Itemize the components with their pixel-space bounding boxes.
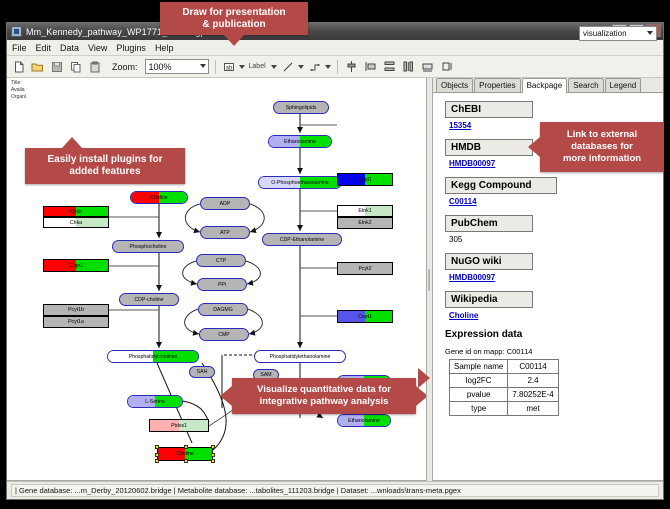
side-panel-tabs: Objects Properties Backpage Search Legen… [433,78,663,93]
svg-text:ab: ab [226,65,233,71]
node-label: Phosphatidylcholines [129,354,178,360]
connector-dropdown-chevron-icon[interactable] [325,65,331,69]
menu-item-view[interactable]: View [88,43,107,53]
metabolite-node-adp[interactable]: ADP [200,197,250,210]
section-header-wikipedia: Wikipedia [445,291,533,308]
tab-properties[interactable]: Properties [474,78,520,92]
metabolite-node-choline-top[interactable]: Choline [130,191,188,204]
line-icon[interactable] [281,59,296,74]
node-label: Etnk2 [358,220,371,226]
connector-tool-group[interactable] [308,59,331,74]
gene-node-ptdss1[interactable]: Ptdss1 [149,419,209,432]
align-left-icon[interactable] [363,59,378,74]
node-label: Pcyt1b [68,307,84,313]
menu-item-edit[interactable]: Edit [36,43,52,53]
node-label: Ethanolamine [348,418,380,424]
connector-icon[interactable] [308,59,323,74]
node-label: CTP [216,258,226,264]
zoom-value: 100% [149,62,172,72]
pubchem-value: 305 [449,235,653,244]
metabolite-node-sah[interactable]: SAH [189,366,215,378]
metabolite-node-cdp-ethanolamine[interactable]: CDP-Ethanolamine [262,233,342,246]
node-label: CDP-choline [134,297,163,303]
selection-handle-6[interactable] [184,459,188,463]
selection-handle-3[interactable] [155,453,159,457]
tab-legend[interactable]: Legend [605,78,642,92]
callout-plugins-arrow-icon [62,137,82,148]
node-label: Choline [176,451,194,457]
gene-node-chkb[interactable]: Chkb [43,206,109,217]
node-label: Chkb [70,209,82,215]
line-tool-group[interactable] [281,59,304,74]
expression-table: Sample name C00114 log2FC 2.4 pvalue 7.8… [449,359,559,416]
section-header-chebi: ChEBI [445,101,533,118]
node-label: Etnk1 [358,208,371,214]
wikipedia-link[interactable]: Choline [449,311,653,320]
callout-links-line1: Link to external [567,129,637,141]
callout-visualize-line1: Visualize quantitative data for [257,384,391,396]
tab-search[interactable]: Search [568,78,603,92]
zoom-combobox[interactable]: 100% [145,59,209,74]
section-header-nugo: NuGO wiki [445,253,533,270]
status-bar-text: | Gene database: ...m_Derby_20120602.bri… [11,484,659,497]
node-label: Cept1 [358,314,372,320]
tab-backpage[interactable]: Backpage [522,78,568,93]
row-label-pvalue: pvalue [450,388,508,402]
row-label-type: type [450,402,508,416]
callout-draw: Draw for presentation & publication [160,2,308,35]
node-label: Ptdss1 [171,423,187,429]
node-label: ATP [220,230,230,236]
section-header-kegg: Kegg Compound [445,177,557,194]
row-label-log2fc: log2FC [450,374,508,388]
table-row: Sample name C00114 [450,360,559,374]
toolbar-label-text: Label [249,63,266,70]
gene-node-sgpl1[interactable]: Sgpl1 [337,173,393,186]
node-label: O-Phosphoethanolamine [271,180,328,186]
table-row: log2FC 2.4 [450,374,559,388]
toolbar-separator-2 [337,60,338,74]
status-bar: | Gene database: ...m_Derby_20120602.bri… [7,481,663,499]
node-label: PPi [218,282,226,288]
visualization-combobox[interactable]: visualization [579,26,657,41]
menu-bar: File Edit Data View Plugins Help [7,40,663,56]
node-label: ADP [220,201,231,207]
metabolite-node-dagmg[interactable]: DAGMG [198,303,248,316]
toolbar-separator [215,60,216,74]
table-row: type met [450,402,559,416]
row-value-log2fc: 2.4 [508,374,558,388]
expression-data-title: Expression data [445,329,653,340]
distribute-horizontal-icon[interactable] [401,59,416,74]
metabolite-node-ctp[interactable]: CTP [196,254,246,267]
callout-links-line3: more information [563,153,641,165]
selection-handle-4[interactable] [211,453,215,457]
callout-plugins-line1: Easily install plugins for [47,154,162,166]
metabolite-node-phosphatidylethanolamine[interactable]: Phosphatidylethanolamine [254,350,346,363]
callout-links-line2: databases for [571,141,633,153]
chevron-down-icon-visualization [647,31,653,35]
paste-icon[interactable] [87,59,102,74]
metabolite-node-sphingolipids[interactable]: Sphingolipids [273,101,329,114]
node-label: Pcyt2 [359,266,372,272]
node-label: DAGMG [213,307,233,313]
node-label: Sphingolipids [286,105,317,111]
callout-expression-arrow-icon [418,368,430,388]
metabolite-node-cmp[interactable]: CMP [199,328,249,341]
metabolite-node-ophosphoethanolamine[interactable]: O-Phosphoethanolamine [258,176,342,189]
selection-handle-2[interactable] [211,445,215,449]
node-label: Phosphatidylethanolamine [270,354,331,360]
menu-item-file[interactable]: File [12,43,27,53]
metabolite-node-ppi[interactable]: PPi [197,278,247,291]
distribute-vertical-icon[interactable] [382,59,397,74]
menu-item-data[interactable]: Data [60,43,79,53]
callout-draw-arrow-icon [224,35,244,46]
selection-handle-5[interactable] [155,459,159,463]
callout-visualize-arrow-right-icon [416,386,427,406]
zoom-label: Zoom: [112,62,138,72]
gene-node-pcyt1b[interactable]: Pcyt1b [43,304,109,316]
gene-node-cept1[interactable]: Cept1 [337,310,393,323]
metabolite-node-lserine1[interactable]: L-Serine [127,395,183,408]
same-height-icon[interactable] [439,59,454,74]
node-label: Chka [70,220,82,226]
callout-plugins: Easily install plugins for added feature… [25,148,185,184]
metabolite-node-cdp-choline[interactable]: CDP-choline [119,293,179,306]
metabolite-node-phosphocholine[interactable]: Phosphocholine [112,240,184,253]
metabolite-node-phosphatidylcholines[interactable]: Phosphatidylcholines [107,350,199,363]
section-header-pubchem: PubChem [445,215,533,232]
selection-handle-7[interactable] [211,459,215,463]
node-label: Pcyt1a [68,319,84,325]
callout-draw-line2: & publication [202,19,265,31]
selection-handle-1[interactable] [184,445,188,449]
metabolite-node-ethanolamine2[interactable]: Ethanolamine [337,414,391,427]
node-label: L-Serine [145,399,165,405]
kegg-link[interactable]: C00114 [449,197,653,206]
node-label: Chpt1 [69,263,83,269]
gene-node-etnk1[interactable]: Etnk1 [337,205,393,217]
nugo-link[interactable]: HMDB00097 [449,273,653,282]
open-folder-icon[interactable] [30,59,45,74]
gene-id-line: Gene id on mapp: C00114 [445,347,653,356]
copy-icon[interactable] [68,59,83,74]
callout-plugins-line2: added features [69,166,140,178]
table-row: pvalue 7.80252E-4 [450,388,559,402]
node-label: SAH [197,369,208,375]
callout-visualize: Visualize quantitative data for integrat… [232,378,416,414]
callout-visualize-arrow-left-icon [220,386,232,406]
node-label: CDP-Ethanolamine [280,237,324,243]
menu-item-plugins[interactable]: Plugins [116,43,146,53]
callout-visualize-line2: integrative pathway analysis [260,396,389,408]
metabolite-node-choline-bottom[interactable]: Choline [157,447,213,461]
selection-handle-0[interactable] [155,445,159,449]
application-icon [11,26,22,37]
toolbar: Zoom: 100% ab Label [7,56,663,78]
label-dropdown-chevron-icon[interactable] [239,65,245,69]
metabolite-node-ethanolamine[interactable]: Ethanolamine [268,135,332,148]
tab-objects[interactable]: Objects [436,78,473,92]
same-width-icon[interactable] [420,59,435,74]
callout-links-arrow-icon [528,137,540,157]
row-value-sample-name: C00114 [508,360,558,374]
row-value-pvalue: 7.80252E-4 [508,388,558,402]
screenshot-root: Mm_Kennedy_pathway_WP1771_45176.gp _ □ ×… [0,0,670,509]
chevron-down-icon [200,64,206,68]
save-icon[interactable] [49,59,64,74]
label-style-chevron-icon[interactable] [271,65,277,69]
label-tool-group[interactable]: ab [222,59,245,74]
callout-draw-line1: Draw for presentation [182,7,285,19]
line-dropdown-chevron-icon[interactable] [298,65,304,69]
metabolite-node-atp[interactable]: ATP [200,226,250,239]
gene-node-chka[interactable]: Chka [43,217,109,228]
menu-item-help[interactable]: Help [155,43,174,53]
text-label-icon[interactable]: ab [222,59,237,74]
application-window: Mm_Kennedy_pathway_WP1771_45176.gp _ □ ×… [6,22,664,500]
callout-links: Link to external databases for more info… [540,122,664,172]
gene-node-pcyt1a[interactable]: Pcyt1a [43,316,109,328]
new-file-icon[interactable] [11,59,26,74]
pathway-canvas[interactable]: Title: Availa Organi [7,78,427,481]
title-bar: Mm_Kennedy_pathway_WP1771_45176.gp _ □ × [7,23,663,40]
gene-node-etnk2[interactable]: Etnk2 [337,217,393,229]
row-value-type: met [508,402,558,416]
visualization-value: visualization [583,29,627,38]
row-label-sample-name: Sample name [450,360,508,374]
align-center-icon[interactable] [344,59,359,74]
gene-node-pcyt2[interactable]: Pcyt2 [337,262,393,275]
section-header-hmdb: HMDB [445,139,533,156]
node-label: Ethanolamine [284,139,316,145]
node-label: Phosphocholine [130,244,167,250]
node-label: Sgpl1 [358,177,371,183]
gene-node-chpt1[interactable]: Chpt1 [43,259,109,272]
node-label: CMP [218,332,230,338]
node-label: Choline [150,195,168,201]
